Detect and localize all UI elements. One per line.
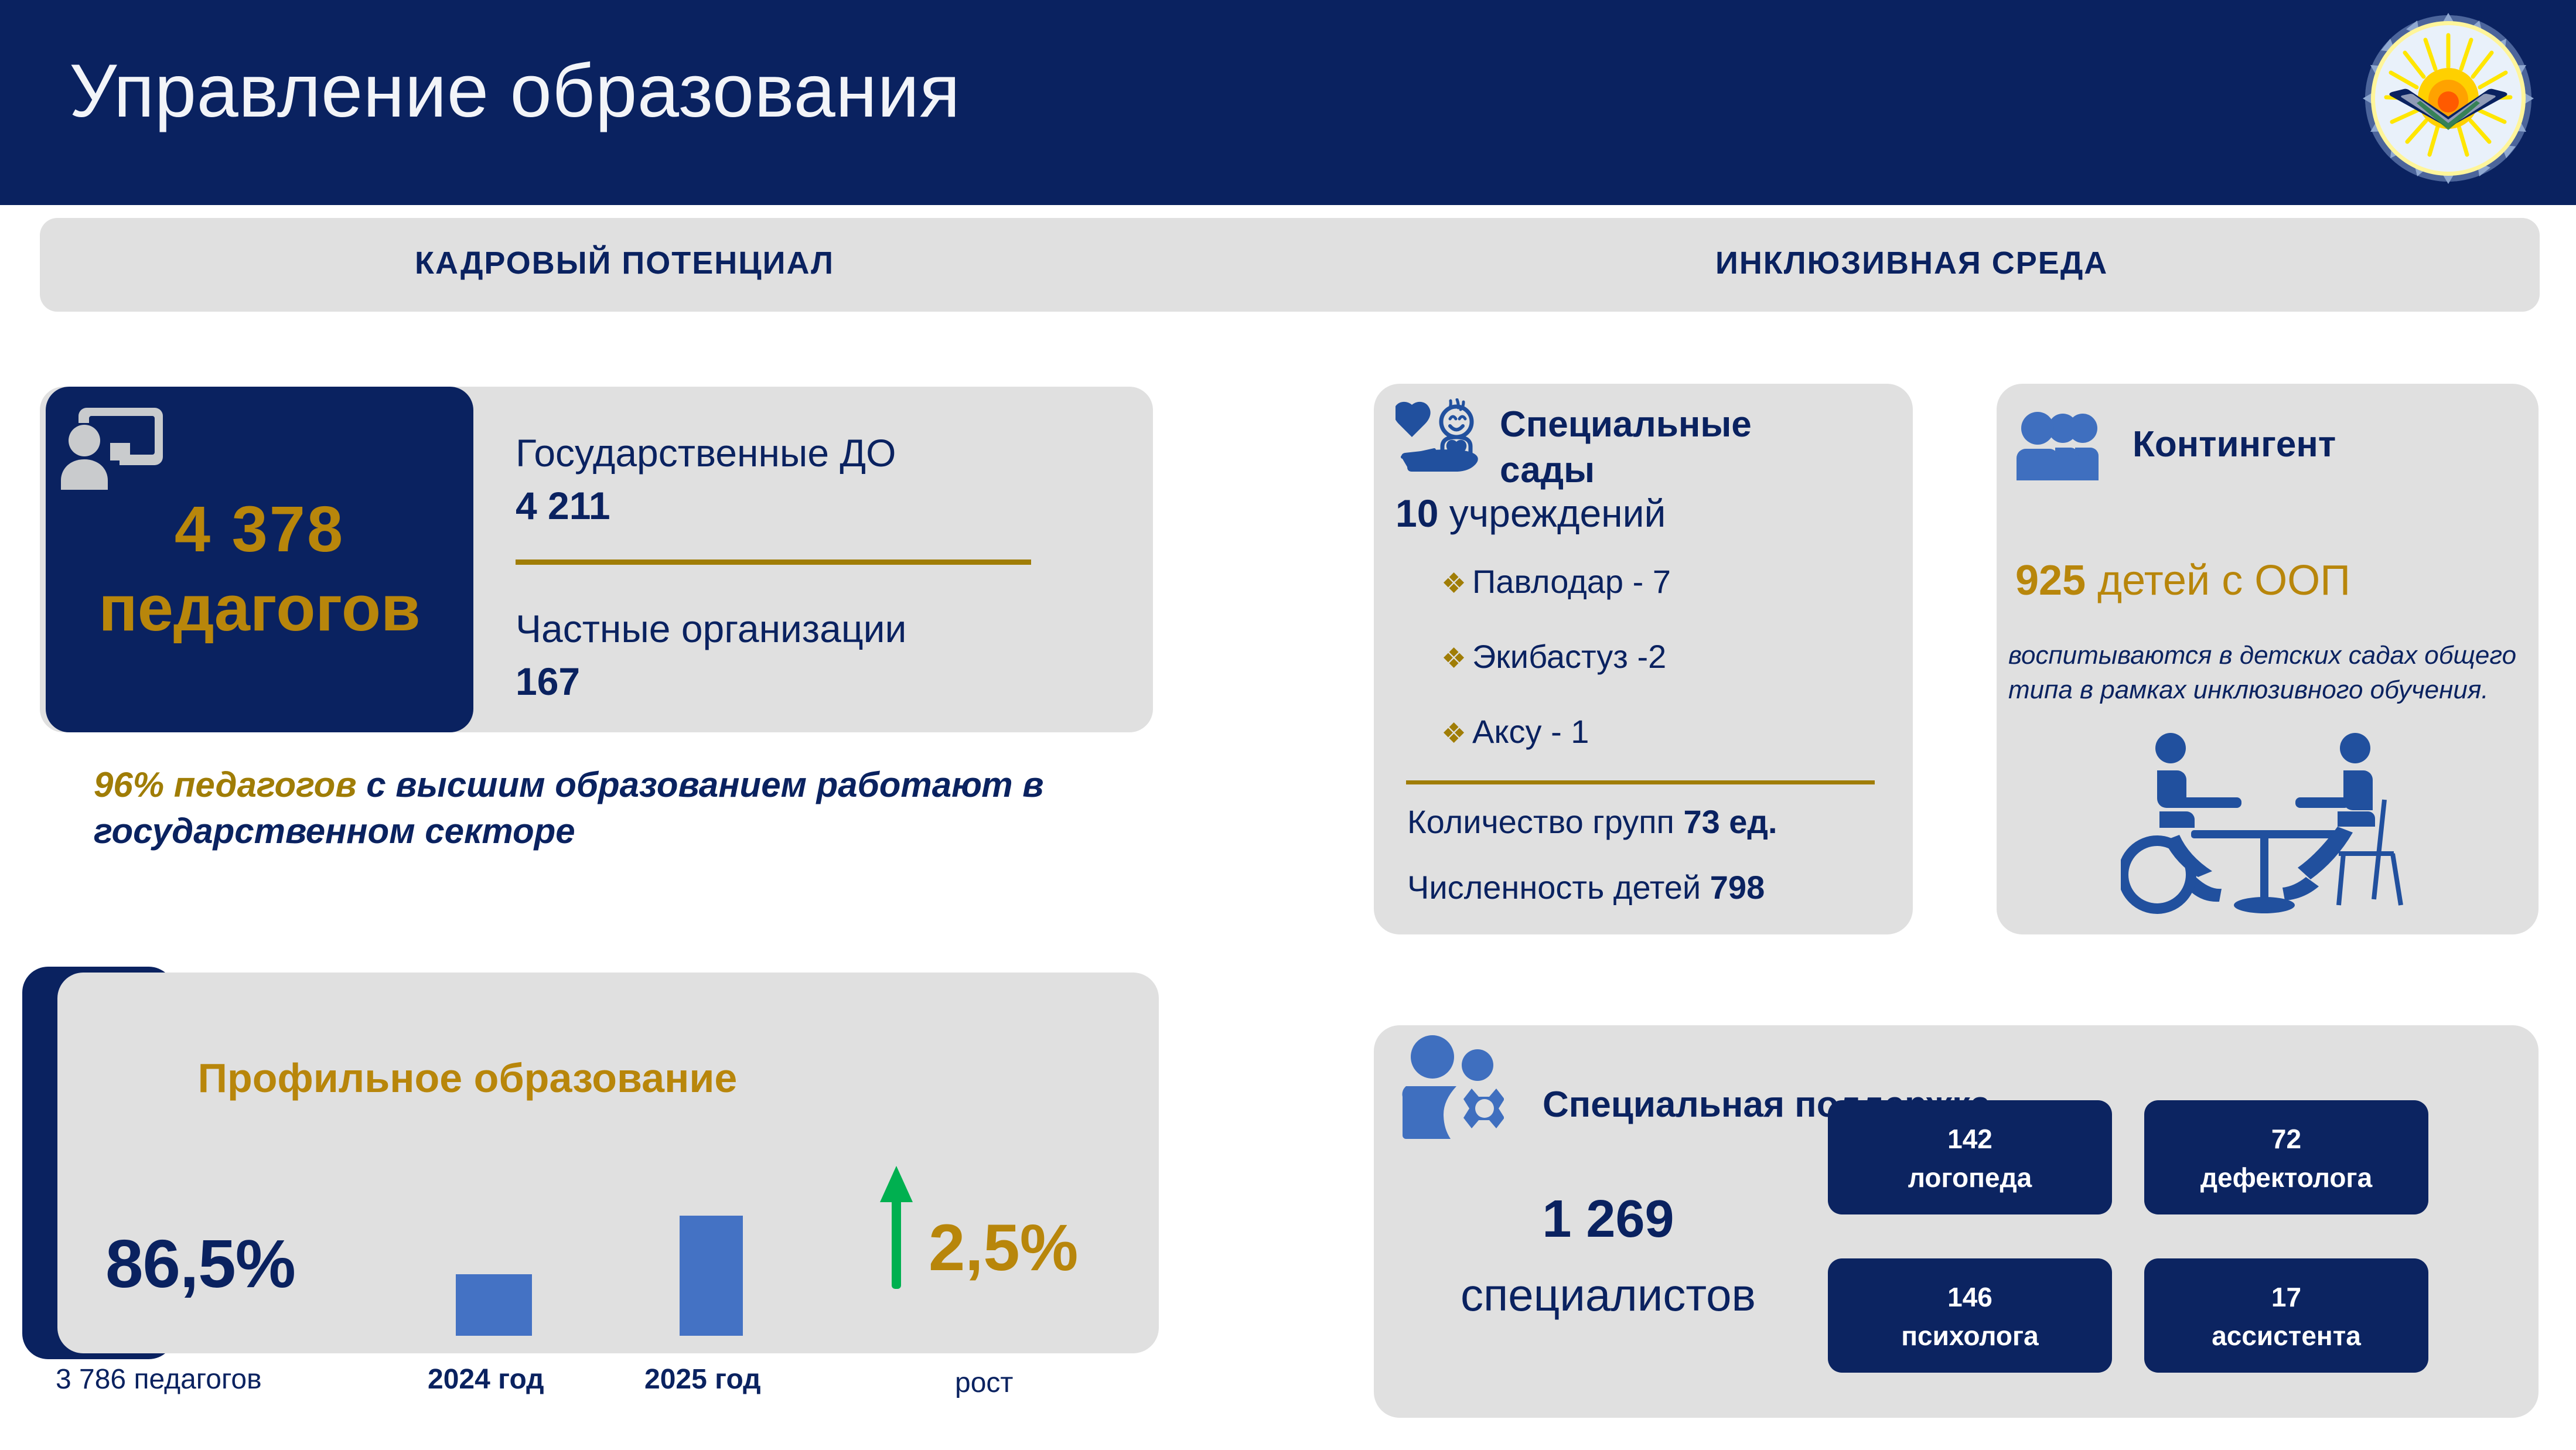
bar-2025 <box>680 1216 743 1336</box>
chart-growth-value: 2,5% <box>929 1210 1078 1285</box>
list-item: ❖Павлодар - 7 <box>1441 562 1671 601</box>
specialist-box-psychologists: 146 психолога <box>1828 1258 2112 1373</box>
state-preschools-label: Государственные ДО <box>516 431 896 475</box>
growth-up-arrow-icon <box>879 1166 914 1289</box>
section-title-personnel: КАДРОВЫЙ ПОТЕНЦИАЛ <box>415 245 834 281</box>
specialist-box-defectologists: 72 дефектолога <box>2144 1100 2428 1214</box>
specialist-count: 142 <box>1947 1119 1992 1159</box>
specialist-count: 72 <box>2271 1119 2301 1159</box>
heart-child-care-icon <box>1396 398 1480 477</box>
specialist-count: 17 <box>2271 1277 2301 1318</box>
specialist-label: логопеда <box>1908 1159 2032 1196</box>
special-gardens-divider <box>1406 780 1875 784</box>
diamond-bullet-icon: ❖ <box>1441 643 1466 674</box>
wheelchair-user-at-table-icon <box>2121 729 2408 923</box>
diamond-bullet-icon: ❖ <box>1441 568 1466 599</box>
contingent-description: воспитываются в детских садах общего тип… <box>2008 639 2524 707</box>
private-orgs-value: 167 <box>516 659 580 704</box>
chart-xtick-2024: 2024 год <box>428 1363 544 1396</box>
section-header-band: КАДРОВЫЙ ПОТЕНЦИАЛ ИНКЛЮЗИВНАЯ СРЕДА <box>40 218 2540 312</box>
specialists-total-number: 1 269 <box>1403 1189 1813 1250</box>
stat-value: 73 ед. <box>1683 803 1777 840</box>
bar-2024 <box>456 1274 532 1336</box>
teachers-card-divider <box>516 559 1031 565</box>
list-item: ❖Аксу - 1 <box>1441 712 1589 750</box>
special-gardens-item-1: Экибастуз -2 <box>1472 638 1666 675</box>
chart-growth-label: рост <box>955 1367 1013 1399</box>
contingent-main: 925 детей с ООП <box>2015 557 2350 605</box>
special-gardens-count: 10 учреждений <box>1396 491 1666 535</box>
teachers-number: 4 378 <box>46 492 473 567</box>
specialist-label: ассистента <box>2212 1318 2361 1354</box>
page-title: Управление образования <box>69 48 960 134</box>
specialist-box-assistants: 17 ассистента <box>2144 1258 2428 1373</box>
specialist-label: дефектолога <box>2200 1159 2372 1196</box>
page-header: Управление образования <box>0 0 2576 205</box>
section-title-inclusive: ИНКЛЮЗИВНАЯ СРЕДА <box>1715 245 2108 281</box>
contingent-title: Контингент <box>2133 424 2336 465</box>
specialists-total-label: специалистов <box>1403 1268 1813 1322</box>
note-highlight: 96% педагогов <box>94 765 357 804</box>
special-gardens-count-unit: учреждений <box>1438 492 1666 535</box>
kazakhstan-education-sun-emblem-icon <box>2360 11 2536 186</box>
teacher-presentation-icon <box>59 404 164 498</box>
teachers-label: педагогов <box>46 571 473 646</box>
three-people-icon <box>2014 410 2108 480</box>
chart-xtick-2025: 2025 год <box>644 1363 761 1396</box>
special-gardens-count-number: 10 <box>1396 492 1438 535</box>
special-gardens-stat-groups: Количество групп 73 ед. <box>1407 803 1777 841</box>
chart-current-sublabel: 3 786 педагогов <box>56 1363 262 1396</box>
list-item: ❖Экибастуз -2 <box>1441 637 1666 675</box>
stat-label: Численность детей <box>1407 869 1710 906</box>
stat-label: Количество групп <box>1407 803 1683 840</box>
stat-value: 798 <box>1710 869 1765 906</box>
contingent-main-text: детей с ООП <box>2086 557 2350 604</box>
specialist-label: психолога <box>1901 1318 2039 1354</box>
private-orgs-label: Частные организации <box>516 606 906 651</box>
special-gardens-title: Специальные сады <box>1500 402 1676 493</box>
special-gardens-item-2: Аксу - 1 <box>1472 713 1589 750</box>
contingent-main-number: 925 <box>2015 557 2086 604</box>
higher-education-note: 96% педагогов с высшим образованием рабо… <box>94 762 1207 854</box>
special-gardens-stat-children: Численность детей 798 <box>1407 868 1765 906</box>
specialist-count: 146 <box>1947 1277 1992 1318</box>
specialist-box-logopeds: 142 логопеда <box>1828 1100 2112 1214</box>
people-gear-icon <box>1396 1035 1504 1146</box>
state-preschools-value: 4 211 <box>516 483 610 528</box>
special-gardens-item-0: Павлодар - 7 <box>1472 563 1671 600</box>
diamond-bullet-icon: ❖ <box>1441 718 1466 749</box>
